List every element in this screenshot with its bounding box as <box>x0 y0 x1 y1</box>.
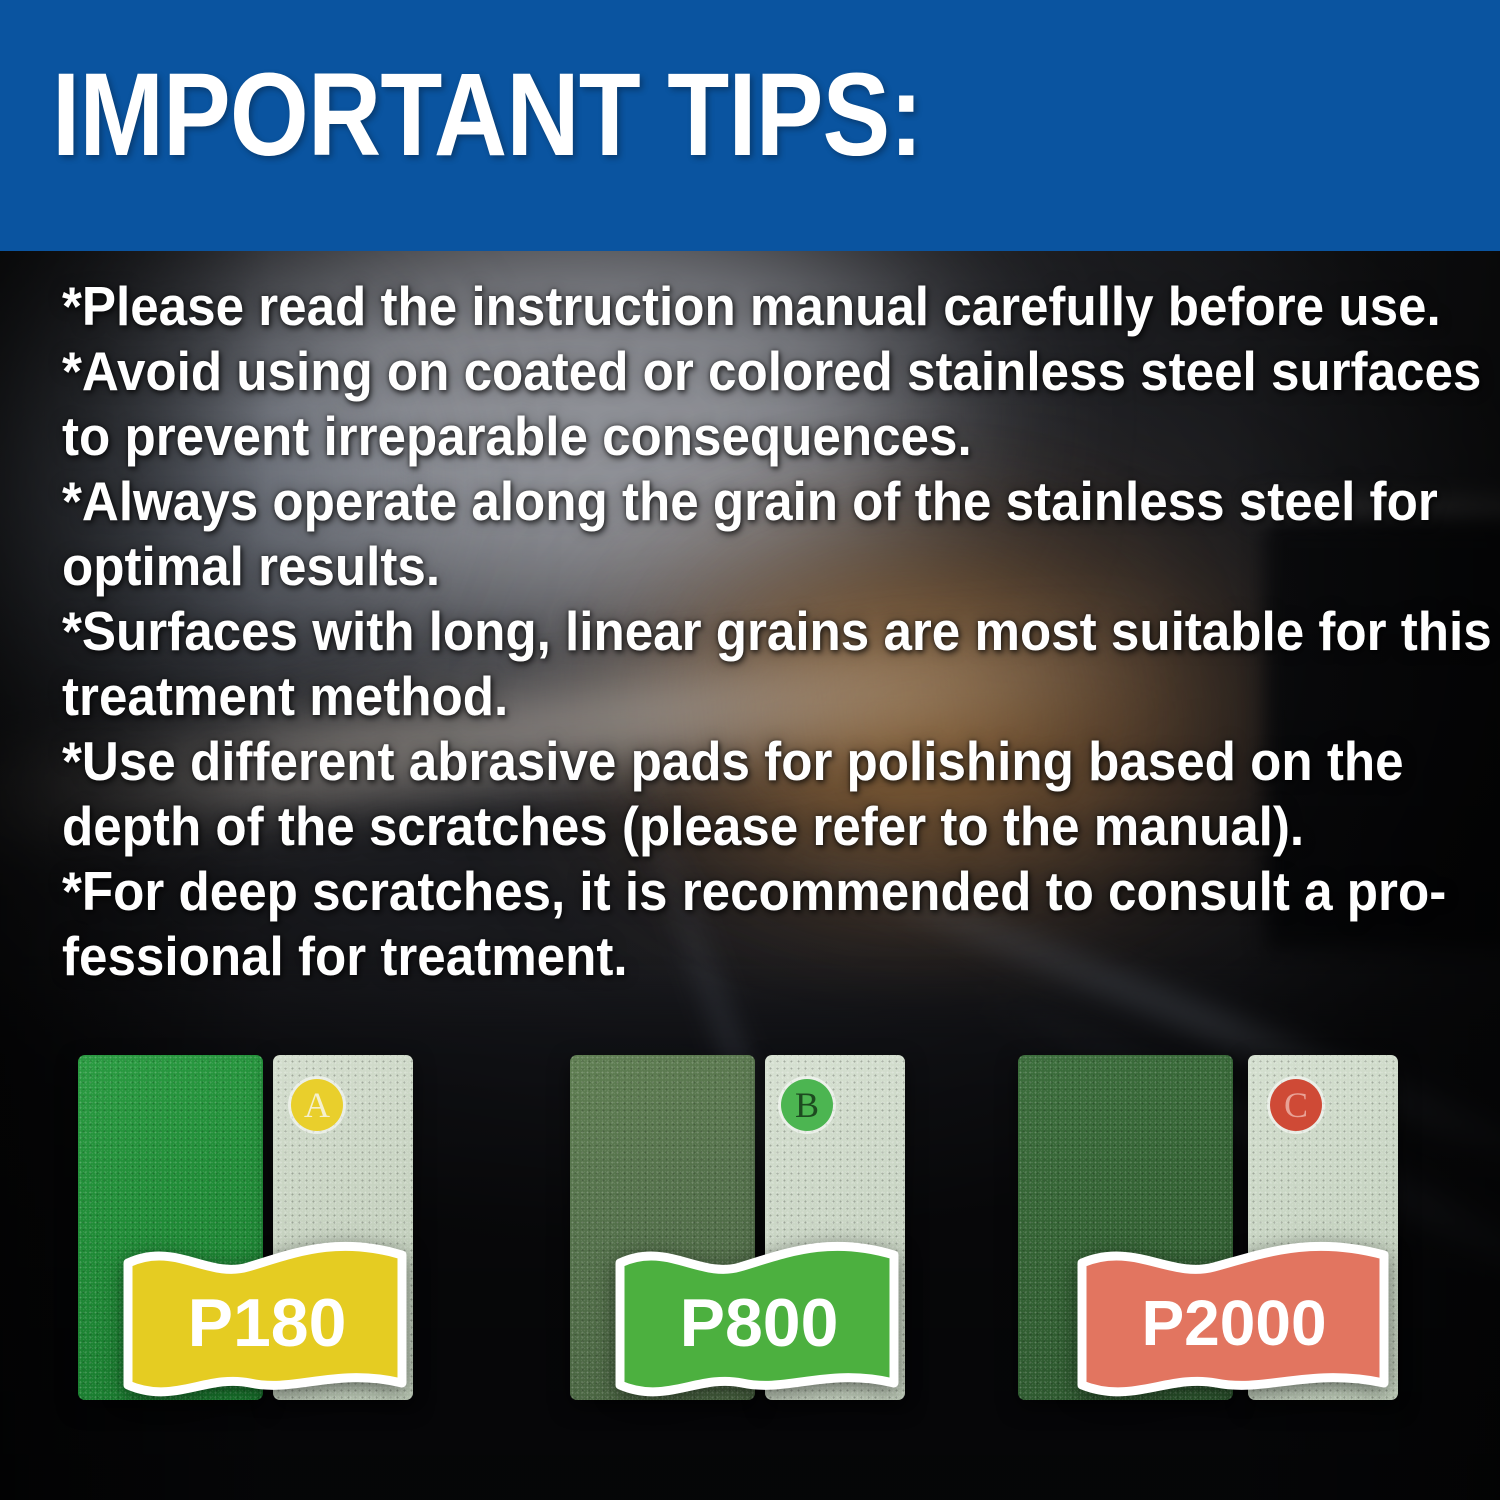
header-banner: IMPORTANT TIPS: <box>0 0 1500 251</box>
grit-banner: P180 <box>120 1233 410 1413</box>
grit-banner-label: P180 <box>188 1285 347 1361</box>
tip-line: *Always operate along the grain of the s… <box>62 469 1364 534</box>
grit-banner: P2000 <box>1074 1233 1392 1413</box>
tip-line: *Avoid using on coated or colored stainl… <box>62 339 1364 404</box>
pad-letter-badge: C <box>1270 1079 1322 1131</box>
tip-line: depth of the scratches (please refer to … <box>62 794 1364 859</box>
grit-banner-shape: P800 <box>612 1233 902 1413</box>
product-pad-group: A P180 <box>78 1055 413 1400</box>
tip-line: to prevent irreparable consequences. <box>62 404 1364 469</box>
tip-line: *For deep scratches, it is recommended t… <box>62 859 1364 924</box>
grit-banner-label: P800 <box>680 1285 839 1361</box>
tip-line: fessional for treatment. <box>62 924 1364 989</box>
tip-line: *Use different abrasive pads for polishi… <box>62 729 1364 794</box>
product-pad-group: B P800 <box>570 1055 905 1400</box>
product-pad-group: C P2000 <box>1018 1055 1398 1400</box>
grit-banner-shape: P2000 <box>1074 1233 1392 1413</box>
page-title: IMPORTANT TIPS: <box>52 56 922 174</box>
tip-line: *Please read the instruction manual care… <box>62 274 1364 339</box>
tip-line: treatment method. <box>62 664 1364 729</box>
grit-banner-label: P2000 <box>1141 1287 1326 1359</box>
grit-banner-shape: P180 <box>120 1233 410 1413</box>
tip-line: optimal results. <box>62 534 1364 599</box>
tips-text-block: *Please read the instruction manual care… <box>62 274 1462 989</box>
pad-letter-badge: B <box>781 1079 833 1131</box>
tip-line: *Surfaces with long, linear grains are m… <box>62 599 1364 664</box>
infographic-page: IMPORTANT TIPS: *Please read the instruc… <box>0 0 1500 1500</box>
pad-letter-badge: A <box>291 1079 343 1131</box>
grit-banner: P800 <box>612 1233 902 1413</box>
